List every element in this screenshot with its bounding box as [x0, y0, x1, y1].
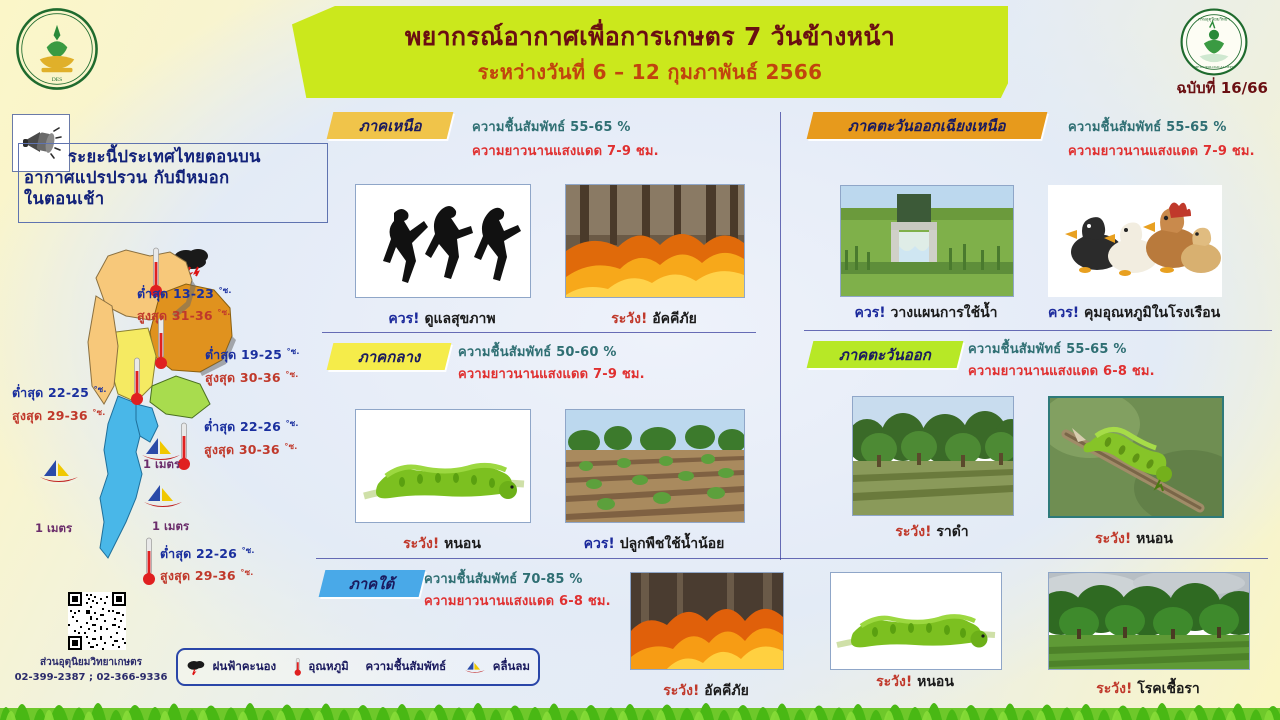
- photo-orchard: [852, 396, 1014, 516]
- caption-north-1: ระวัง! อัคคีภัย: [565, 308, 743, 330]
- infographic-root: DES กรมอุตุนิยมวิทยา METEOROLOGICAL DEPT…: [0, 0, 1280, 720]
- sunshine-east: ความยาวนานแสงแดด 6-8 ชม.: [968, 360, 1155, 381]
- temp-min-west: ต่ำสุด 22-25 °ซ.: [12, 383, 107, 403]
- divider-northeast-east: [804, 330, 1272, 331]
- photo-forest-fire: [565, 184, 745, 298]
- photo-caterpillar-branch: [1048, 396, 1224, 518]
- divider-north-central: [322, 332, 756, 333]
- temp-max-west: สูงสุด 29-36 °ซ.: [12, 406, 105, 426]
- temp-max-south: สูงสุด 29-36 °ซ.: [160, 566, 253, 586]
- region-banner-north: ภาคเหนือ: [327, 112, 454, 139]
- sunshine-central: ความยาวนานแสงแดด 7-9 ชม.: [458, 363, 645, 384]
- humidity-north: ความชื้นสัมพัทธ์ 55-65 %: [472, 116, 631, 137]
- caption-northeast-0: ควร! วางแผนการใช้น้ำ: [840, 302, 1012, 324]
- thermometer-icon-central: [131, 356, 143, 408]
- photo-exercise-silhouettes: [355, 184, 531, 298]
- page-subtitle-daterange: ระหว่างวันที่ 6 – 12 กุมภาพันธ์ 2566: [300, 56, 1000, 88]
- sunshine-south: ความยาวนานแสงแดด 6-8 ชม.: [424, 590, 611, 611]
- caption-east-0: ระวัง! ราดำ: [852, 521, 1012, 543]
- photo-vegetable-field: [565, 409, 745, 523]
- region-banner-central: ภาคกลาง: [327, 343, 452, 370]
- sunshine-northeast: ความยาวนานแสงแดด 7-9 ชม.: [1068, 140, 1255, 161]
- wave-height-gulf-upper: 1 เมตร: [143, 456, 180, 474]
- temp-max-north: สูงสุด 31-36 °ซ.: [137, 306, 230, 326]
- sailboat-icon-andaman: [36, 456, 82, 486]
- temp-min-north: ต่ำสุด 13-23 °ซ.: [137, 284, 232, 304]
- humidity-east: ความชื้นสัมพัทธ์ 55-65 %: [968, 338, 1127, 359]
- humidity-northeast: ความชื้นสัมพัทธ์ 55-65 %: [1068, 116, 1227, 137]
- thermometer-icon-south: [143, 536, 155, 588]
- legend-label-humidity: ความชื้นสัมพัทธ์: [366, 658, 447, 676]
- humidity-central: ความชื้นสัมพัทธ์ 50-60 %: [458, 341, 617, 362]
- region-banner-east: ภาคตะวันออก: [807, 341, 964, 368]
- vertical-divider: [780, 112, 781, 560]
- temp-min-south: ต่ำสุด 22-26 °ซ.: [160, 544, 255, 564]
- caption-northeast-1: ควร! คุมอุณหภูมิในโรงเรือน: [1048, 302, 1220, 324]
- photo-caterpillar-south: [830, 572, 1002, 670]
- region-banner-south: ภาคใต้: [319, 570, 426, 597]
- photo-irrigation-canal: [840, 185, 1014, 297]
- photo-fire: [630, 572, 784, 670]
- region-banner-northeast: ภาคตะวันออกเฉียงเหนือ: [807, 112, 1048, 139]
- grass-footer: [0, 678, 1280, 720]
- wave-height-gulf-lower: 1 เมตร: [152, 518, 189, 536]
- contact-office: ส่วนอุตุนิยมวิทยาเกษตร: [6, 656, 176, 671]
- thundercloud-icon: [186, 657, 207, 677]
- sunshine-north: ความยาวนานแสงแดด 7-9 ชม.: [472, 140, 659, 161]
- caption-north-0: ควร! ดูแลสุขภาพ: [355, 308, 529, 330]
- page-title: พยากรณ์อากาศเพื่อการเกษตร 7 วันข้างหน้า: [300, 17, 1000, 57]
- edition-number: ฉบับที่ 16/66: [1176, 76, 1268, 100]
- legend-label-temperature: อุณหภูมิ: [308, 658, 348, 676]
- humidity-south: ความชื้นสัมพัทธ์ 70-85 %: [424, 568, 583, 589]
- legend-label-thunderstorm: ฝนฟ้าคะนอง: [213, 658, 276, 676]
- legend-label-wind-wave: คลื่นลม: [493, 658, 530, 676]
- photo-rubber-plantation: [1048, 572, 1250, 670]
- wave-height-andaman: 1 เมตร: [35, 520, 72, 538]
- temp-min-east: ต่ำสุด 22-26 °ซ.: [204, 417, 299, 437]
- temp-min-northeast: ต่ำสุด 19-25 °ซ.: [205, 345, 300, 365]
- announcement-line-1: ระยะนี้ประเทศไทยตอนบน: [24, 146, 324, 167]
- thai-meteorological-department-logo: กรมอุตุนิยมวิทยา METEOROLOGICAL DEPT: [1178, 6, 1250, 78]
- announcement-line-3: ในตอนเช้า: [24, 189, 105, 208]
- sailboat-icon: [463, 656, 487, 678]
- caption-central-1: ควร! ปลูกพืชใช้น้ำน้อย: [565, 533, 743, 555]
- qr-code: [68, 592, 126, 650]
- announcement-line-2: อากาศแปรปรวน กับมีหมอก: [24, 168, 230, 187]
- photo-green-caterpillar: [355, 409, 531, 523]
- sailboat-icon-gulf-lower: [140, 481, 186, 511]
- temp-max-east: สูงสุด 30-36 °ซ.: [204, 440, 297, 460]
- svg-text:DES: DES: [52, 77, 63, 83]
- ministry-digital-economy-society-logo: DES: [14, 6, 100, 92]
- divider-south: [316, 558, 1268, 559]
- svg-text:METEOROLOGICAL DEPT: METEOROLOGICAL DEPT: [1194, 65, 1233, 69]
- photo-poultry-ducks-chickens: [1048, 185, 1222, 297]
- caption-central-0: ระวัง! หนอน: [355, 533, 529, 555]
- caption-east-1: ระวัง! หนอน: [1048, 528, 1220, 550]
- announcement-text: ระยะนี้ประเทศไทยตอนบน อากาศแปรปรวน กับมี…: [24, 146, 324, 209]
- thermometer-icon: [293, 655, 303, 679]
- temp-max-northeast: สูงสุด 30-36 °ซ.: [205, 368, 298, 388]
